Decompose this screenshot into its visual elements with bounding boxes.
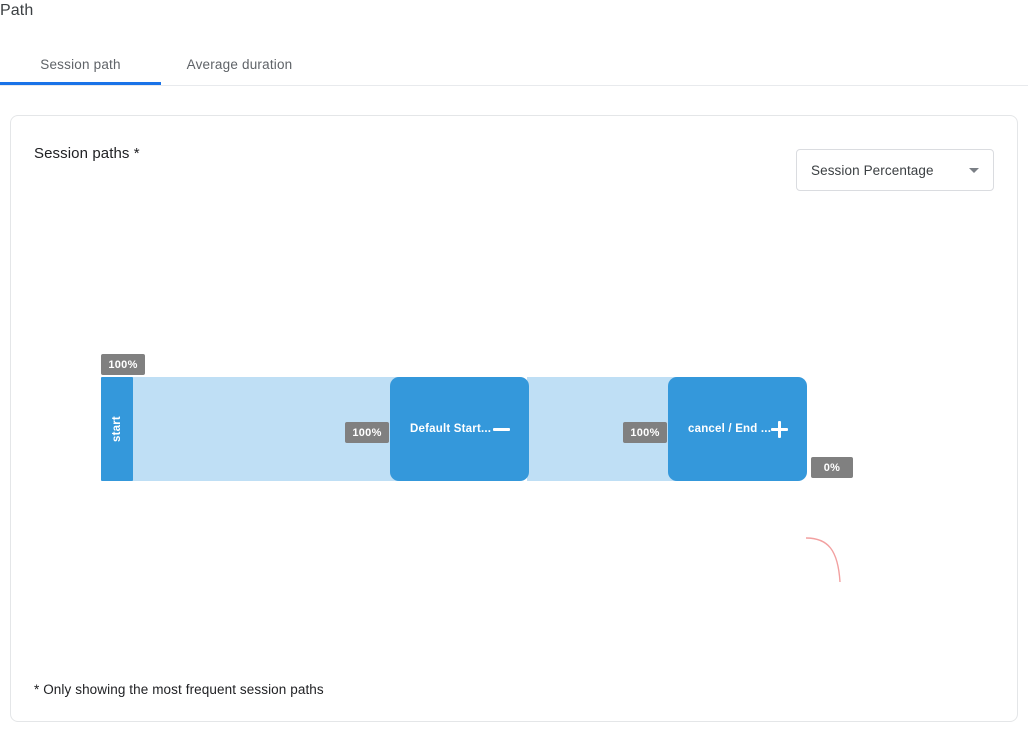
page-title: Path	[0, 2, 33, 20]
tab-average-duration-label: Average duration	[187, 57, 293, 72]
sankey-diagram: start Default Start... cancel / End ... …	[11, 116, 1019, 723]
tab-session-path-label: Session path	[40, 57, 120, 72]
sankey-node-cancel-end[interactable]: cancel / End ...	[668, 377, 807, 481]
badge-exit: 0%	[811, 457, 853, 478]
sankey-exit-curve	[806, 536, 866, 591]
card-footnote: * Only showing the most frequent session…	[34, 682, 324, 697]
tab-bar: Session path Average duration	[0, 44, 1028, 86]
session-paths-card: Session paths * Session Percentage start…	[10, 115, 1018, 722]
minus-icon[interactable]	[493, 421, 510, 438]
badge-into-cancel-end-label: 100%	[630, 427, 659, 439]
sankey-node-start[interactable]: start	[101, 377, 133, 481]
sankey-node-cancel-end-label: cancel / End ...	[688, 423, 771, 435]
badge-start-top-label: 100%	[108, 359, 137, 371]
badge-start-top: 100%	[101, 354, 145, 375]
badge-exit-label: 0%	[824, 462, 841, 474]
sankey-node-default-start-label: Default Start...	[410, 423, 491, 435]
badge-into-default-start: 100%	[345, 422, 389, 443]
plus-icon[interactable]	[771, 421, 788, 438]
sankey-node-default-start[interactable]: Default Start...	[390, 377, 529, 481]
tab-average-duration[interactable]: Average duration	[161, 44, 318, 85]
badge-into-cancel-end: 100%	[623, 422, 667, 443]
tab-session-path[interactable]: Session path	[0, 44, 161, 85]
badge-into-default-start-label: 100%	[352, 427, 381, 439]
sankey-node-start-label: start	[111, 416, 123, 442]
